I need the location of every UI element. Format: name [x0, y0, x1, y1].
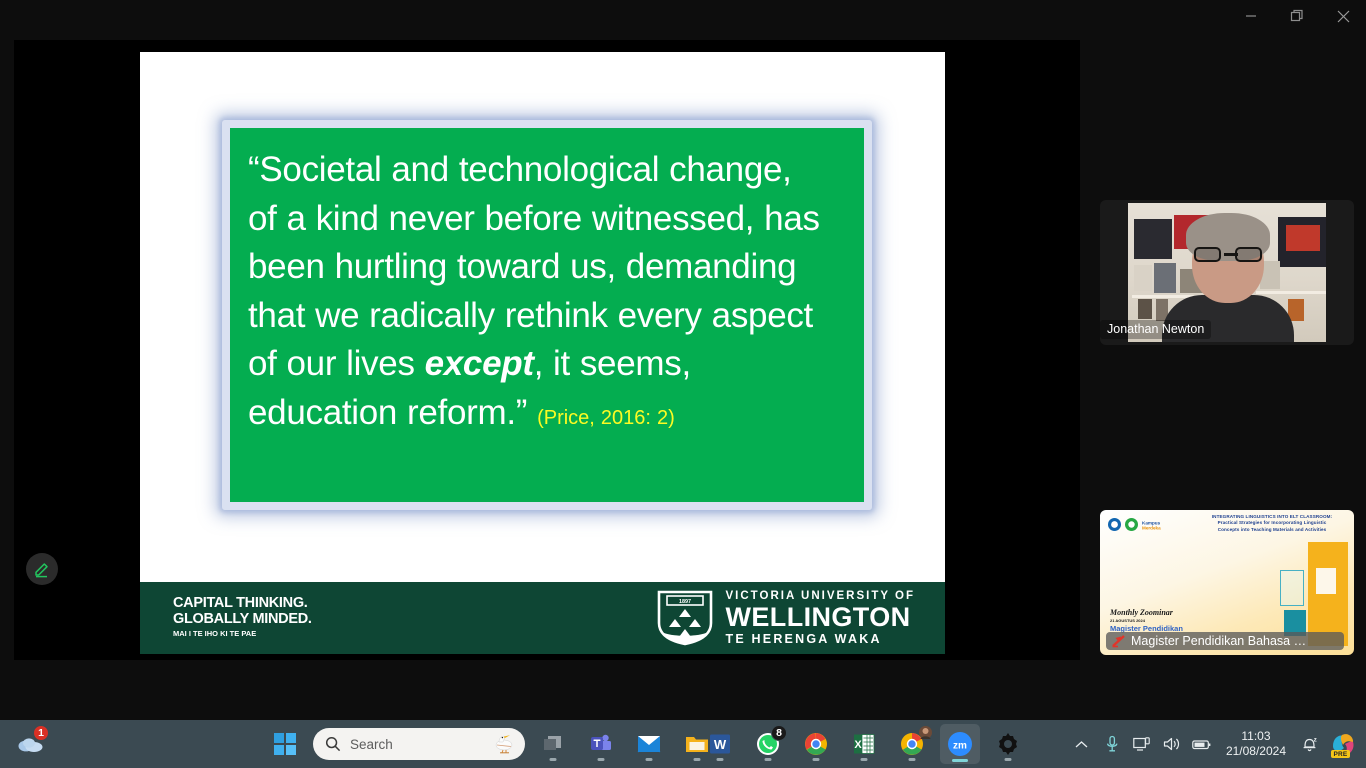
shared-content-title: Magister Pendidikan Bahasa …: [1131, 634, 1306, 648]
university-wordmark: VICTORIA UNIVERSITY OF WELLINGTON TE HER…: [726, 591, 915, 646]
shared-content-thumbnail[interactable]: Kampus Merdeka INTEGRATING LINGUISTICS I…: [1100, 510, 1354, 655]
svg-text:zm: zm: [953, 741, 967, 752]
search-icon: [325, 736, 341, 752]
teams-icon: [590, 733, 612, 755]
shared-screen-stage: “Societal and technological change, of a…: [14, 40, 1080, 660]
taskbar-chrome-2[interactable]: [892, 724, 932, 764]
pencil-icon: [33, 560, 51, 578]
quote-line-3: been hurtling toward us, demanding: [248, 243, 844, 292]
shared-content-label: Magister Pendidikan Bahasa …: [1106, 632, 1344, 650]
volume-icon: [1163, 736, 1181, 752]
screen-share-icon: [1112, 635, 1126, 648]
taskbar-teams[interactable]: [581, 724, 621, 764]
quote-line-5-pre: of our lives: [248, 344, 425, 383]
thumbnail-title: INTEGRATING LINGUISTICS INTO ELT CLASSRO…: [1196, 514, 1348, 533]
taskbar-start-button[interactable]: [265, 724, 305, 764]
quote-line-1: “Societal and technological change,: [248, 146, 844, 195]
windows-taskbar: 1 Search: [0, 720, 1366, 768]
microphone-status[interactable]: [1098, 724, 1126, 764]
zoominar-date: 21 AGUSTUS 2024: [1110, 618, 1183, 623]
battery-icon: [1192, 738, 1212, 751]
show-hidden-icons-button[interactable]: [1068, 724, 1096, 764]
gannet-bird-icon: [491, 733, 515, 755]
word-icon: W: [709, 733, 731, 755]
thumbnail-title-line-3: Concepts into Teaching Materials and Act…: [1196, 527, 1348, 533]
decorative-shape-c: [1280, 570, 1304, 606]
quote-callout-box: “Societal and technological change, of a…: [222, 120, 872, 510]
tagline-line-2: GLOBALLY MINDED.: [173, 612, 312, 628]
taskbar-clock[interactable]: 11:03 21/08/2024: [1218, 729, 1294, 759]
mail-icon: [637, 735, 661, 753]
taskbar-search-box[interactable]: Search: [313, 728, 525, 760]
taskbar-task-view[interactable]: [533, 724, 573, 764]
taskbar-zoom[interactable]: zm: [940, 724, 980, 764]
notifications-bell-icon: z: [1301, 735, 1319, 753]
taskbar-chrome-1[interactable]: [796, 724, 836, 764]
kampus-merdeka-mark-icon: [1125, 518, 1138, 531]
shield-icon: 1897: [656, 590, 714, 646]
wordmark-line-1: VICTORIA UNIVERSITY OF: [726, 591, 915, 603]
windows-logo-icon: [274, 733, 296, 755]
presentation-slide: “Societal and technological change, of a…: [140, 52, 945, 654]
tagline-maori: MAI I TE IHO KI TE PAE: [173, 629, 312, 638]
tagline-line-1: CAPITAL THINKING.: [173, 596, 312, 612]
quote-line-5: of our lives except, it seems,: [248, 340, 844, 389]
taskbar-word[interactable]: W: [700, 724, 740, 764]
restore-button[interactable]: [1274, 0, 1320, 32]
quote-line-2: of a kind never before witnessed, has: [248, 195, 844, 244]
display-status[interactable]: [1128, 724, 1156, 764]
taskbar-mail[interactable]: [629, 724, 669, 764]
svg-text:W: W: [714, 737, 727, 752]
battery-status[interactable]: [1188, 724, 1216, 764]
tut-wuri-handayani-icon: [1108, 518, 1121, 531]
copilot-preview-badge: PRE: [1331, 750, 1350, 758]
taskbar-onedrive[interactable]: 1: [10, 724, 50, 764]
notifications-button[interactable]: z: [1296, 724, 1324, 764]
volume-status[interactable]: [1158, 724, 1186, 764]
zoominar-title: Monthly Zoominar: [1110, 608, 1183, 617]
kampus-merdeka-logo-icon: Kampus Merdeka: [1142, 519, 1172, 531]
search-placeholder: Search: [350, 737, 482, 752]
display-icon: [1133, 737, 1150, 752]
quote-emphasis-except: except: [425, 344, 534, 383]
task-view-icon: [542, 734, 564, 754]
quote-text: “Societal and technological change, of a…: [248, 146, 844, 442]
onedrive-badge: 1: [33, 725, 49, 741]
taskbar-excel[interactable]: X: [844, 724, 884, 764]
copilot-icon: PRE: [1330, 731, 1356, 757]
chevron-up-icon: [1075, 740, 1088, 749]
video-rail: Jonathan Newton Kampus Merd: [1088, 40, 1366, 660]
wordmark-line-3: TE HERENGA WAKA: [726, 633, 915, 646]
quote-line-5-post: , it seems,: [534, 344, 691, 383]
quote-line-6: education reform.” (Price, 2016: 2): [248, 389, 844, 443]
glasses-icon: [1194, 247, 1262, 262]
quote-line-4: that we radically rethink every aspect: [248, 292, 844, 341]
svg-text:1897: 1897: [679, 599, 691, 605]
whatsapp-badge: 8: [771, 725, 787, 741]
victoria-university-logo: 1897 VICTORIA UNIVERSITY OF WELLINGTON T…: [656, 590, 915, 646]
chrome-icon: [804, 732, 828, 756]
profile-avatar: [919, 726, 932, 739]
thumbnail-title-line-2: Practical Strategies for Incorporating L…: [1196, 520, 1348, 526]
participant-name: Jonathan Newton: [1100, 320, 1211, 339]
zoom-shared-screen-window: “Societal and technological change, of a…: [0, 0, 1366, 768]
university-tagline: CAPITAL THINKING. GLOBALLY MINDED. MAI I…: [173, 596, 312, 638]
zoom-icon: zm: [947, 731, 973, 757]
institution-logos: Kampus Merdeka: [1108, 518, 1172, 531]
copilot-button[interactable]: PRE: [1326, 724, 1360, 764]
clock-time: 11:03: [1226, 729, 1286, 744]
slide-footer-band: CAPITAL THINKING. GLOBALLY MINDED. MAI I…: [140, 582, 945, 654]
excel-icon: X: [853, 733, 875, 755]
minimize-button[interactable]: [1228, 0, 1274, 32]
svg-text:Merdeka: Merdeka: [1142, 525, 1161, 530]
svg-text:z: z: [1314, 736, 1317, 743]
svg-text:X: X: [854, 739, 862, 751]
wordmark-line-2: WELLINGTON: [726, 604, 915, 631]
clock-date: 21/08/2024: [1226, 744, 1286, 759]
thumbnail-footer-text: Monthly Zoominar 21 AGUSTUS 2024 Magiste…: [1110, 608, 1183, 633]
decorative-shape-a: [1308, 542, 1348, 646]
window-titlebar: [0, 0, 1366, 40]
close-button[interactable]: [1320, 0, 1366, 32]
decorative-shape-b: [1316, 568, 1336, 594]
gear-icon: [996, 732, 1020, 756]
microphone-icon: [1105, 735, 1119, 753]
participant-video-tile[interactable]: Jonathan Newton: [1100, 200, 1354, 345]
taskbar-whatsapp[interactable]: 8: [748, 724, 788, 764]
quote-citation: (Price, 2016: 2): [537, 407, 675, 429]
quote-line-6-text: education reform.”: [248, 393, 527, 432]
annotate-button[interactable]: [26, 553, 58, 585]
taskbar-settings[interactable]: [988, 724, 1028, 764]
